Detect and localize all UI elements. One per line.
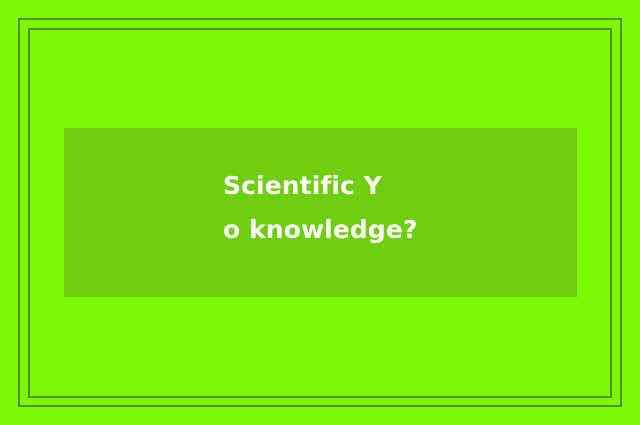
slide-canvas: Scientific Y o knowledge? — [0, 0, 640, 425]
headline-text-block: Scientific Y o knowledge? — [223, 164, 563, 252]
headline-line-1: Scientific Y — [223, 164, 563, 208]
content-panel: Scientific Y o knowledge? — [64, 128, 577, 297]
headline-line-2: o knowledge? — [223, 208, 563, 252]
